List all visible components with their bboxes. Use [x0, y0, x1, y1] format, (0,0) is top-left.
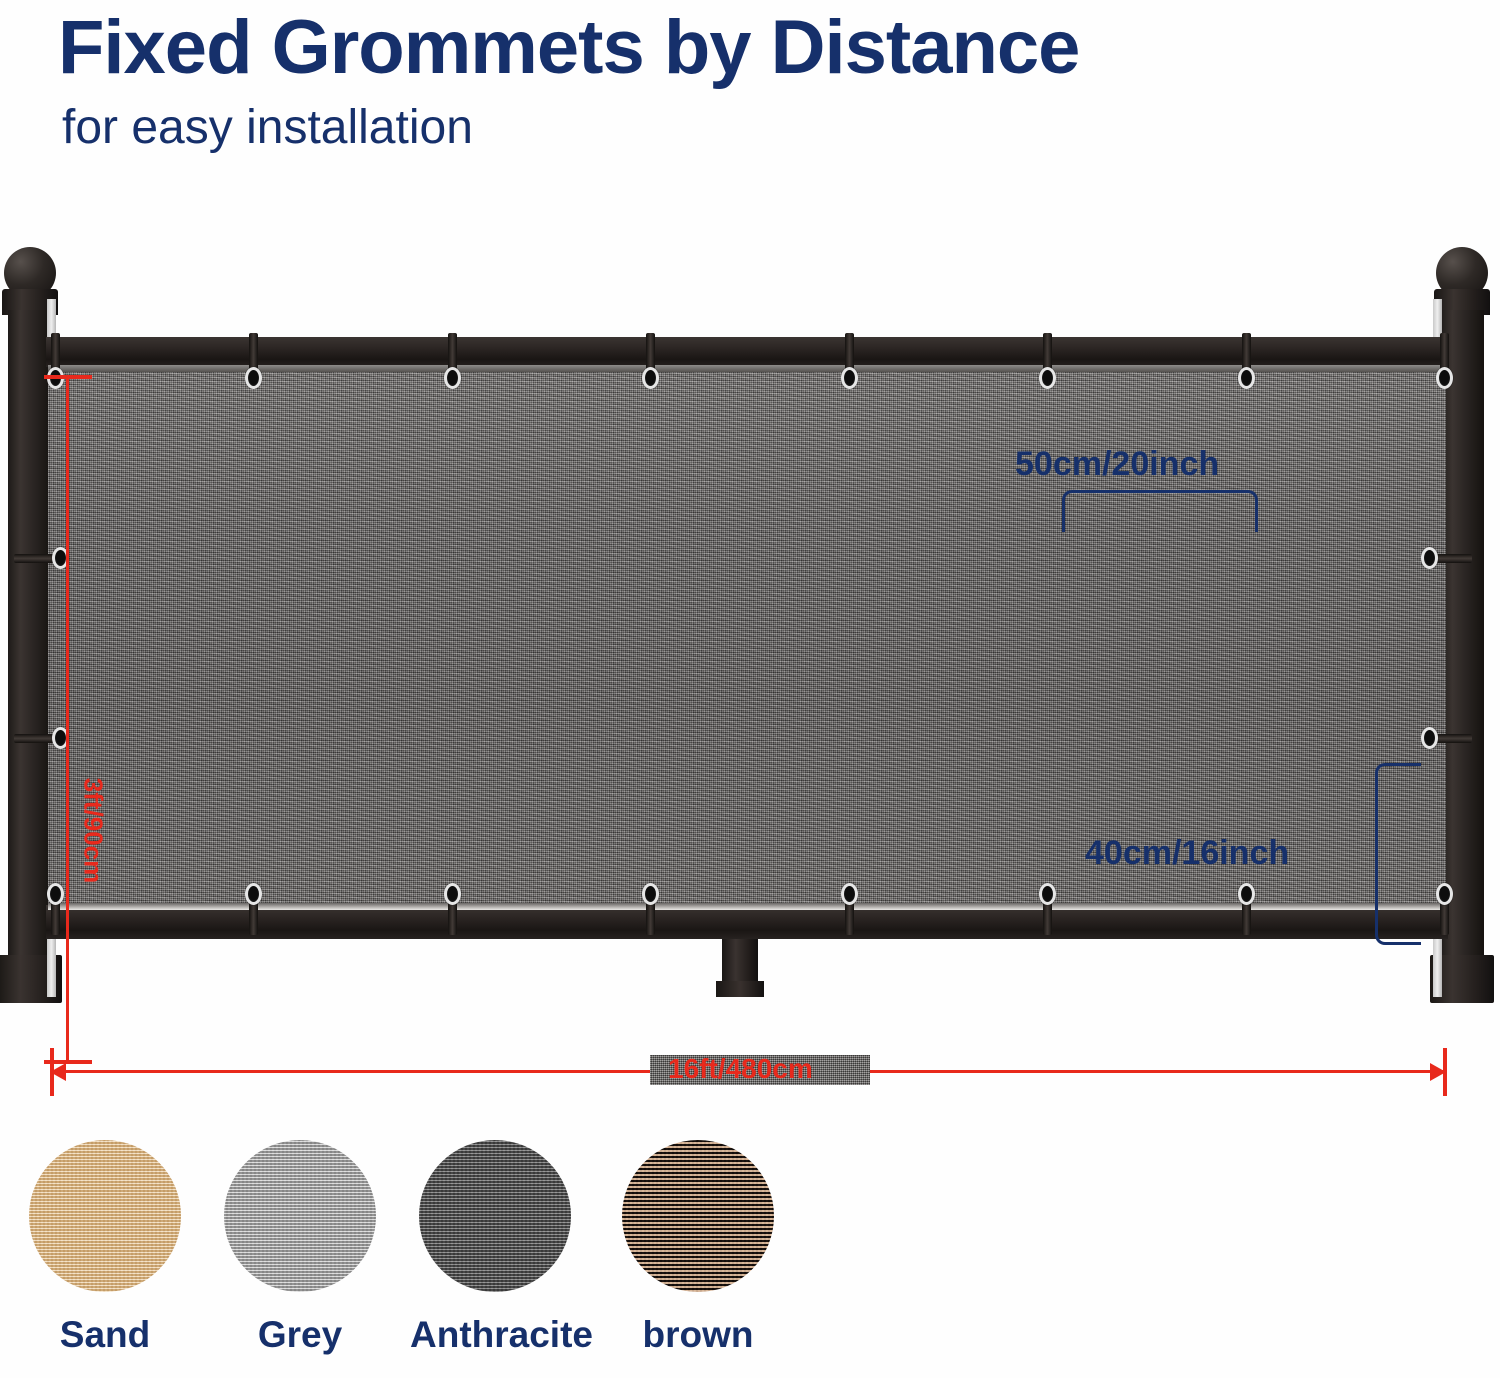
spacing-label-side: 40cm/16inch	[1085, 834, 1289, 873]
page-title: Fixed Grommets by Distance	[58, 4, 1079, 91]
grommet-side	[1421, 727, 1438, 749]
zip-tie	[1432, 554, 1472, 563]
grommet	[1436, 883, 1453, 905]
color-options: SandGreyAnthracitebrown	[0, 1140, 1500, 1378]
zip-tie	[14, 554, 54, 563]
dimension-label-height: 3ft/90cm	[77, 778, 108, 884]
fence-post-middle-foot	[716, 981, 764, 997]
color-swatch-label: Anthracite	[410, 1314, 580, 1356]
grommet	[1039, 883, 1056, 905]
color-swatch[interactable]	[224, 1140, 376, 1292]
color-swatch-label: Grey	[215, 1314, 385, 1356]
dimension-line-vertical	[66, 375, 69, 1063]
grommet	[841, 367, 858, 389]
color-option[interactable]: brown	[613, 1140, 783, 1356]
fence-post-left	[8, 310, 52, 990]
grommet	[47, 883, 64, 905]
grommet	[444, 883, 461, 905]
color-swatch-label: Sand	[20, 1314, 190, 1356]
zip-tie	[1432, 734, 1472, 743]
color-option[interactable]: Sand	[20, 1140, 190, 1356]
grommet-side	[1421, 547, 1438, 569]
page-subtitle: for easy installation	[62, 100, 473, 155]
color-swatch-label: brown	[613, 1314, 783, 1356]
grommet	[1436, 367, 1453, 389]
color-swatch[interactable]	[29, 1140, 181, 1292]
grommet	[1039, 367, 1056, 389]
dimension-arrow-right	[1430, 1063, 1446, 1081]
grommet	[841, 883, 858, 905]
grommet	[1238, 367, 1255, 389]
grommet	[1238, 883, 1255, 905]
color-option[interactable]: Anthracite	[410, 1140, 580, 1356]
privacy-screen-mesh	[48, 365, 1446, 910]
fence-illustration: 50cm/20inch 40cm/16inch 3ft/90cm 16ft/48…	[0, 215, 1500, 1035]
dimension-arrow-left	[50, 1063, 66, 1081]
dimension-tick-top	[44, 375, 92, 379]
infographic-page: Fixed Grommets by Distance for easy inst…	[0, 0, 1500, 1378]
color-swatch[interactable]	[622, 1140, 774, 1292]
spacing-bracket-top	[1062, 490, 1258, 532]
spacing-label-top: 50cm/20inch	[1015, 445, 1219, 484]
spacing-bracket-side	[1375, 763, 1421, 945]
grommet	[444, 367, 461, 389]
dimension-label-width: 16ft/480cm	[668, 1053, 813, 1085]
color-option[interactable]: Grey	[215, 1140, 385, 1356]
zip-tie	[14, 734, 54, 743]
color-swatch[interactable]	[419, 1140, 571, 1292]
